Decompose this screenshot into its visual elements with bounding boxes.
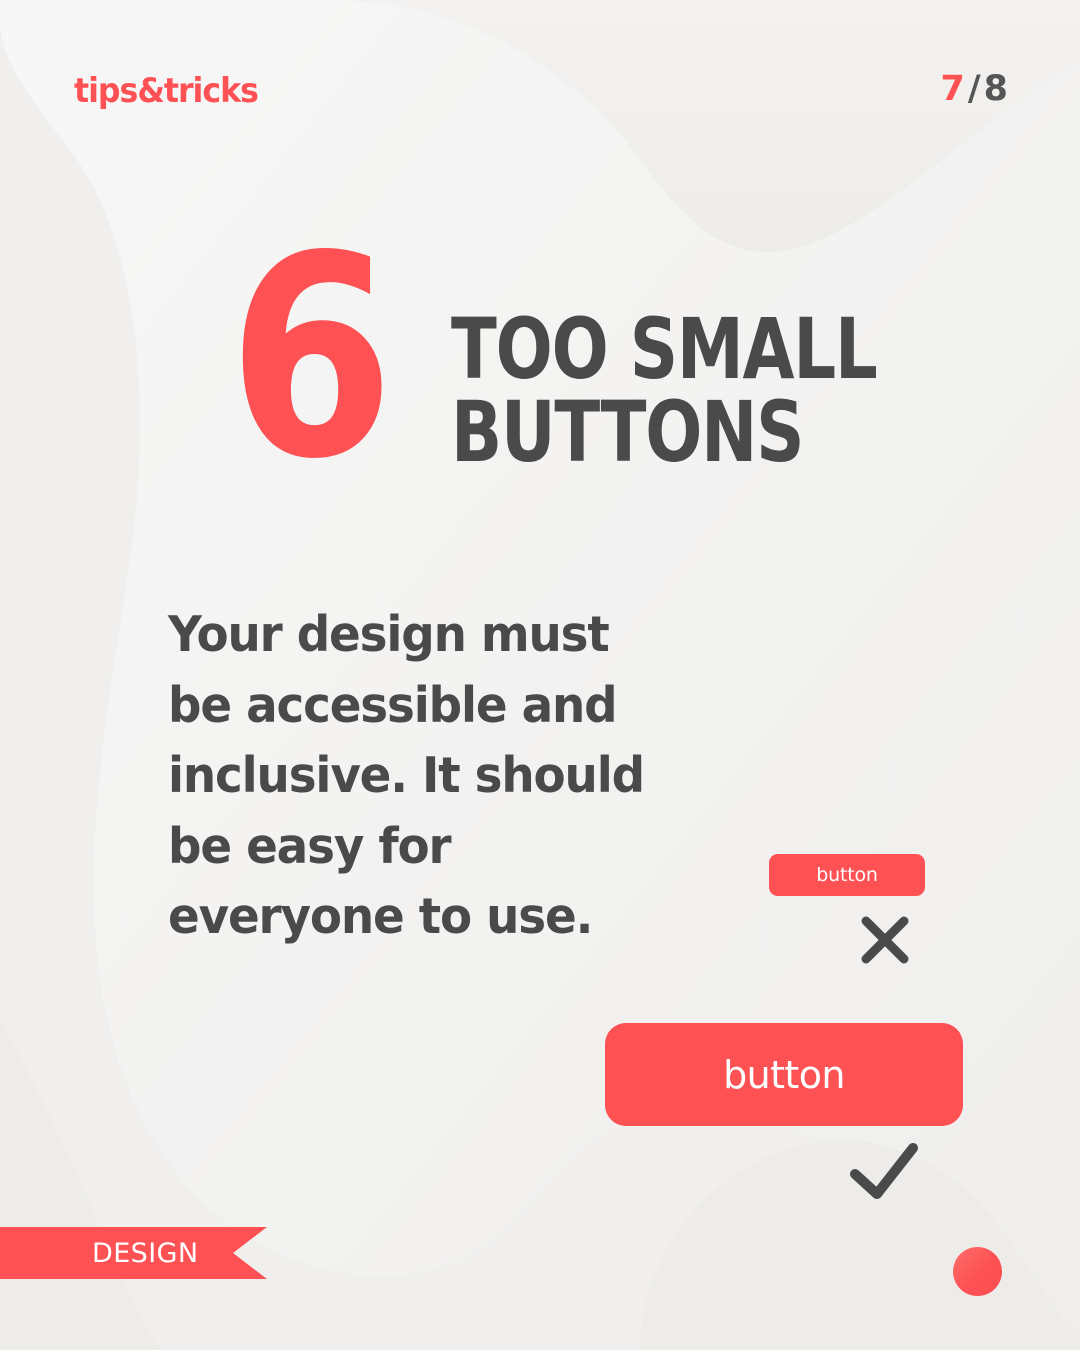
demo-button-too-small-label: button bbox=[816, 864, 877, 886]
category-ribbon: DESIGN bbox=[0, 1227, 267, 1279]
demo-button-too-small[interactable]: button bbox=[769, 854, 925, 896]
body-paragraph: Your design must be accessible and inclu… bbox=[168, 600, 644, 953]
category-ribbon-label: DESIGN bbox=[92, 1238, 198, 1269]
page-counter-separator: / bbox=[968, 69, 981, 109]
slide-header: tips&tricks 7/8 bbox=[0, 0, 1080, 190]
page-counter-current: 7 bbox=[940, 69, 964, 109]
circle-dot-icon bbox=[953, 1247, 1002, 1296]
headline-block: 6 TOO SMALL BUTTONS bbox=[228, 262, 983, 474]
x-mark-icon bbox=[858, 913, 912, 967]
demo-button-correct-size[interactable]: button bbox=[605, 1023, 963, 1126]
demo-button-correct-size-label: button bbox=[723, 1053, 845, 1097]
tip-number: 6 bbox=[228, 256, 387, 462]
brand-logo: tips&tricks bbox=[74, 74, 258, 108]
page-title: TOO SMALL BUTTONS bbox=[451, 308, 877, 474]
check-mark-icon bbox=[848, 1140, 920, 1202]
page-counter-total: 8 bbox=[984, 69, 1008, 109]
page-counter: 7/8 bbox=[940, 72, 1008, 107]
slide-canvas: tips&tricks 7/8 6 TOO SMALL BUTTONS Your… bbox=[0, 0, 1080, 1350]
